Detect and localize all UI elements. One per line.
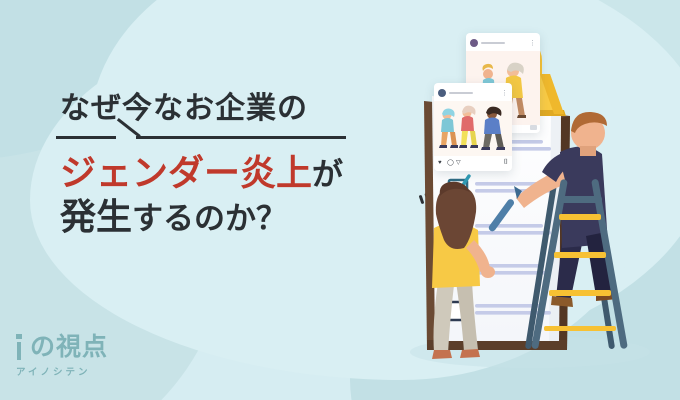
headline-line-3-strong: 発生 <box>60 196 132 237</box>
logo: の視点 アイノシテン <box>16 334 108 378</box>
headline-line-3-rest: するのか？ <box>132 201 287 236</box>
card-image-illustration <box>434 101 512 156</box>
headline-line-3: 発生するのか？ <box>60 197 346 237</box>
illustration-svg <box>410 0 680 400</box>
ladder-step-1 <box>559 214 601 220</box>
avatar <box>470 39 478 47</box>
logo-wordmark: の視点 <box>16 334 108 360</box>
headline-divider <box>56 136 346 150</box>
logo-subtitle: アイノシテン <box>16 364 108 378</box>
headline-line-2: ジェンダー炎上が <box>60 154 346 193</box>
shoe-left <box>432 350 452 359</box>
comment-icon[interactable]: ◯ <box>447 160 453 166</box>
illustration <box>410 0 680 400</box>
more-options-icon[interactable]: ⋮ <box>529 41 536 46</box>
divider-segment-left <box>56 136 116 139</box>
social-post-card-front[interactable]: ⋮ <box>434 83 512 171</box>
card-header: ⋮ <box>434 83 512 101</box>
card-image <box>434 101 512 156</box>
ladder-step-3 <box>549 290 611 296</box>
divider-segment-right <box>136 136 346 139</box>
shoe-right <box>460 349 480 358</box>
username-placeholder <box>481 42 505 44</box>
banner-root: なぜ今なお企業の ジェンダー炎上が 発生するのか？ の視点 アイノシテン <box>0 0 680 400</box>
headline-line-1: なぜ今なお企業の <box>60 94 346 124</box>
headline-block: なぜ今なお企業の ジェンダー炎上が 発生するのか？ <box>60 94 346 237</box>
avatar <box>438 89 446 97</box>
logo-main-text: の視点 <box>30 335 108 360</box>
ladder-top-cap <box>558 196 602 203</box>
headline-accent-text: ジェンダー炎上 <box>60 152 312 193</box>
more-options-icon[interactable]: ⋮ <box>501 91 508 96</box>
hand <box>481 266 495 278</box>
headline-line-2-suffix: が <box>312 157 343 192</box>
card-badge <box>530 125 537 130</box>
username-placeholder <box>449 92 473 94</box>
logo-i-mark <box>16 334 25 360</box>
bookmark-icon[interactable]: ⌷ <box>504 159 508 166</box>
heart-icon[interactable]: ♥ <box>438 160 444 166</box>
card-header: ⋮ <box>466 33 540 51</box>
share-icon[interactable]: ▽ <box>456 160 462 166</box>
ladder-step-4 <box>544 326 616 331</box>
card-footer: ♥ ◯ ▽ ⌷ <box>434 156 512 169</box>
ladder-step-2 <box>554 252 606 258</box>
